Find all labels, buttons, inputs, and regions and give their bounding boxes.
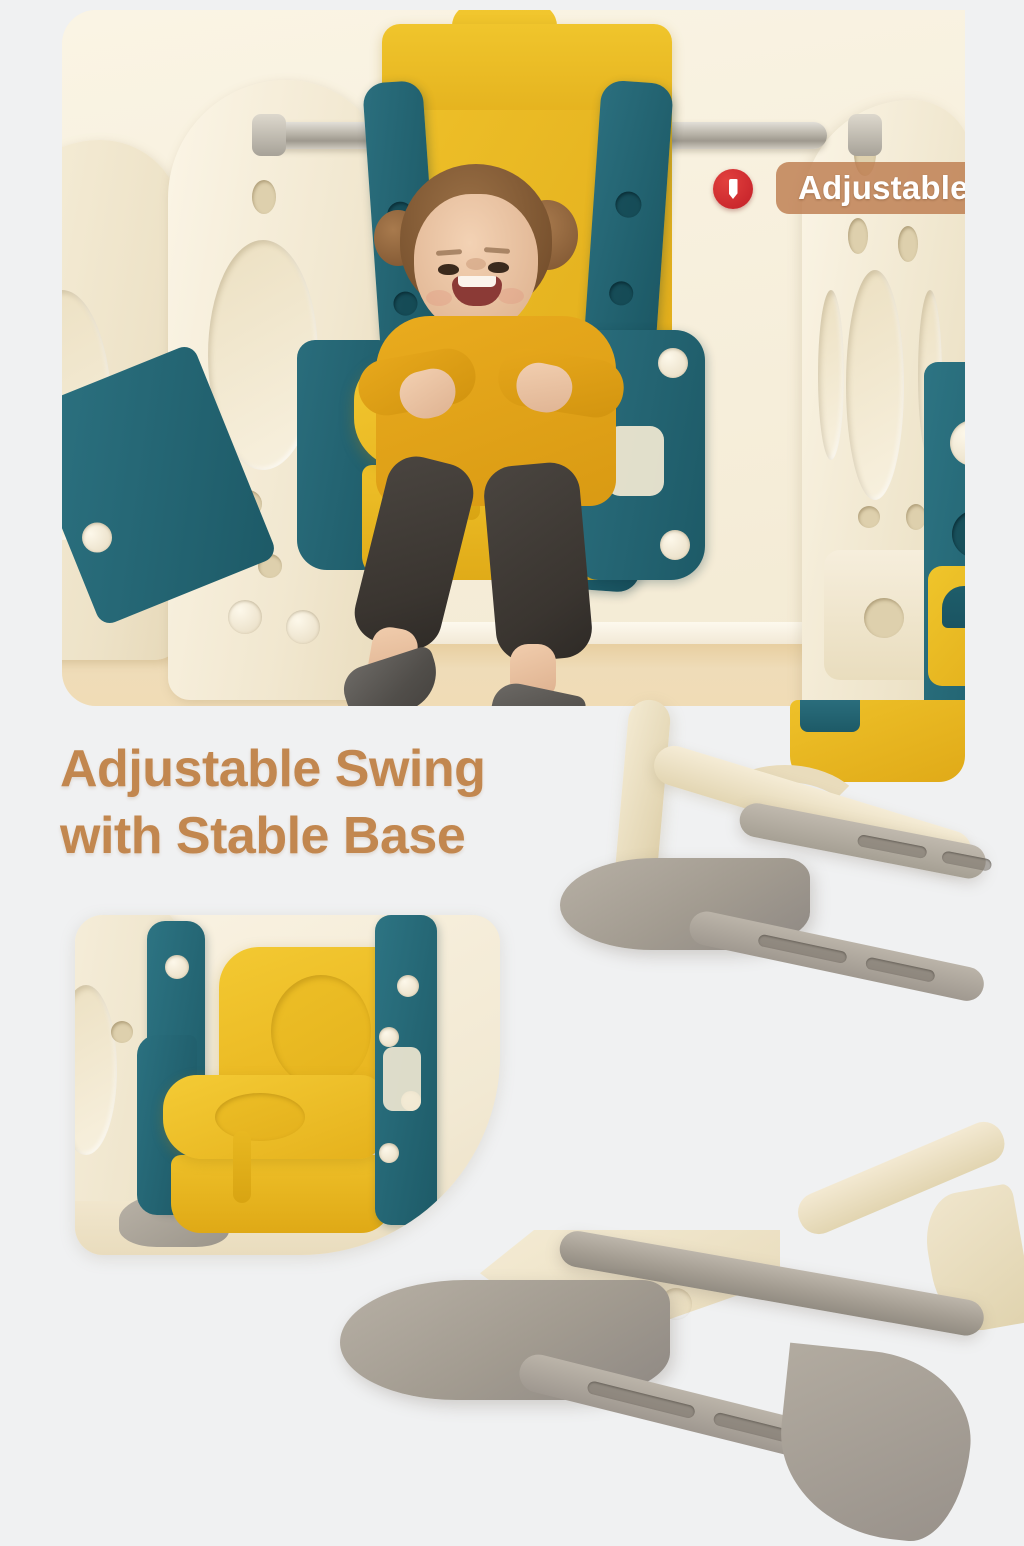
crossbar-end-cap-left — [252, 114, 286, 156]
headline-line-2: with Stable Base — [60, 803, 680, 870]
headline-line-1: Adjustable Swing — [60, 736, 680, 803]
crossbar-end-cap-right — [848, 114, 882, 156]
inset-seat-pan — [171, 1155, 391, 1233]
swing-seat-detail-photo — [75, 915, 500, 1255]
gray-foot-arm-upper — [686, 908, 987, 1004]
inset-backrest-emblem — [271, 975, 371, 1087]
hero-product-photo: Adjustable — [62, 10, 965, 706]
seat-edge-teal — [800, 700, 860, 732]
inset-safety-bar-stem — [233, 1131, 251, 1203]
inset-swing-arm-right — [375, 915, 437, 1225]
gray-foot-blade — [771, 1343, 979, 1546]
product-feature-page: Adjustable Adjustable Swing with Stable … — [0, 0, 1024, 1536]
legging-left — [348, 450, 479, 656]
legging-right — [482, 460, 595, 664]
page-title: Adjustable Swing with Stable Base — [60, 736, 680, 869]
adjustable-badge-label: Adjustable — [798, 169, 965, 207]
exclamation-badge-icon — [713, 169, 753, 209]
child-nose — [466, 258, 486, 270]
inset-safety-bar-emblem — [215, 1093, 305, 1141]
adjustable-badge: Adjustable — [776, 162, 965, 214]
child-figure — [348, 158, 678, 706]
